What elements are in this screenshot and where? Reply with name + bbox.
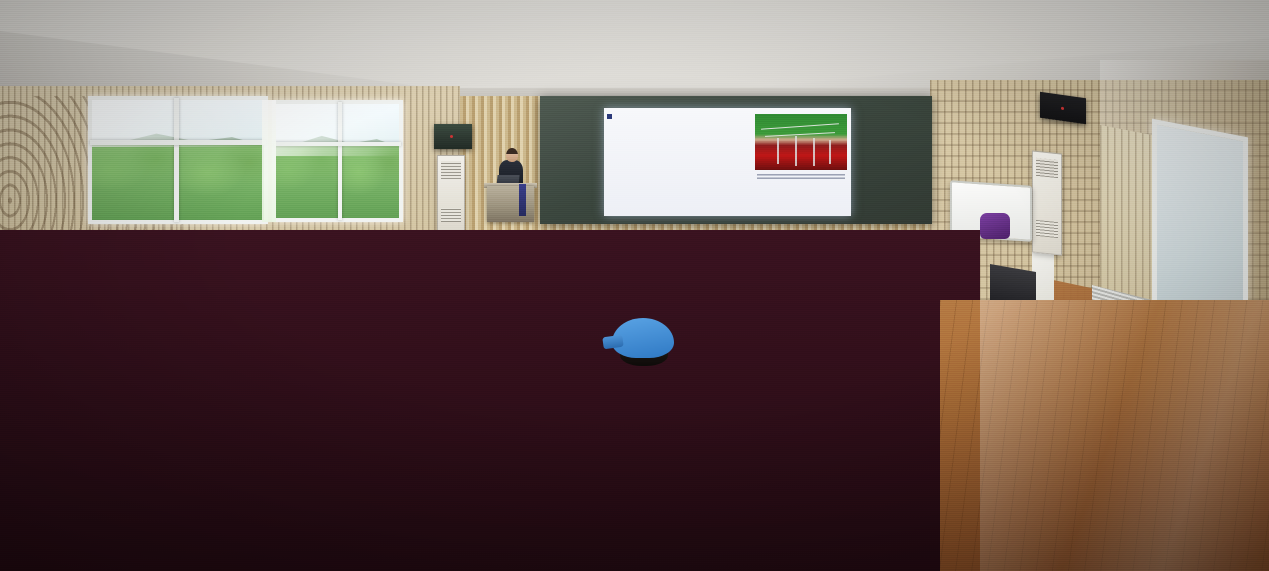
slide-figure-caption [757, 172, 845, 179]
window-mullion [90, 140, 266, 145]
podium-mic-stand [519, 184, 526, 216]
podium [487, 186, 534, 222]
lecture-hall-photo [0, 0, 1269, 571]
purple-backpack [980, 213, 1010, 239]
slide-figure-image [755, 114, 847, 170]
left-wall-speaker [434, 124, 472, 149]
presentation-slide [604, 108, 851, 216]
seating-floor-shadow [0, 230, 980, 571]
window-light-gap [262, 100, 276, 222]
ac-unit-left [437, 155, 465, 235]
window-mullion [274, 142, 401, 146]
ac-unit-right [1032, 150, 1062, 255]
window-mullion [338, 102, 342, 220]
presenter-head [506, 148, 518, 162]
floor-reflection [980, 300, 1269, 571]
window-mullion [174, 98, 179, 222]
slide-bullet-square [607, 114, 612, 119]
